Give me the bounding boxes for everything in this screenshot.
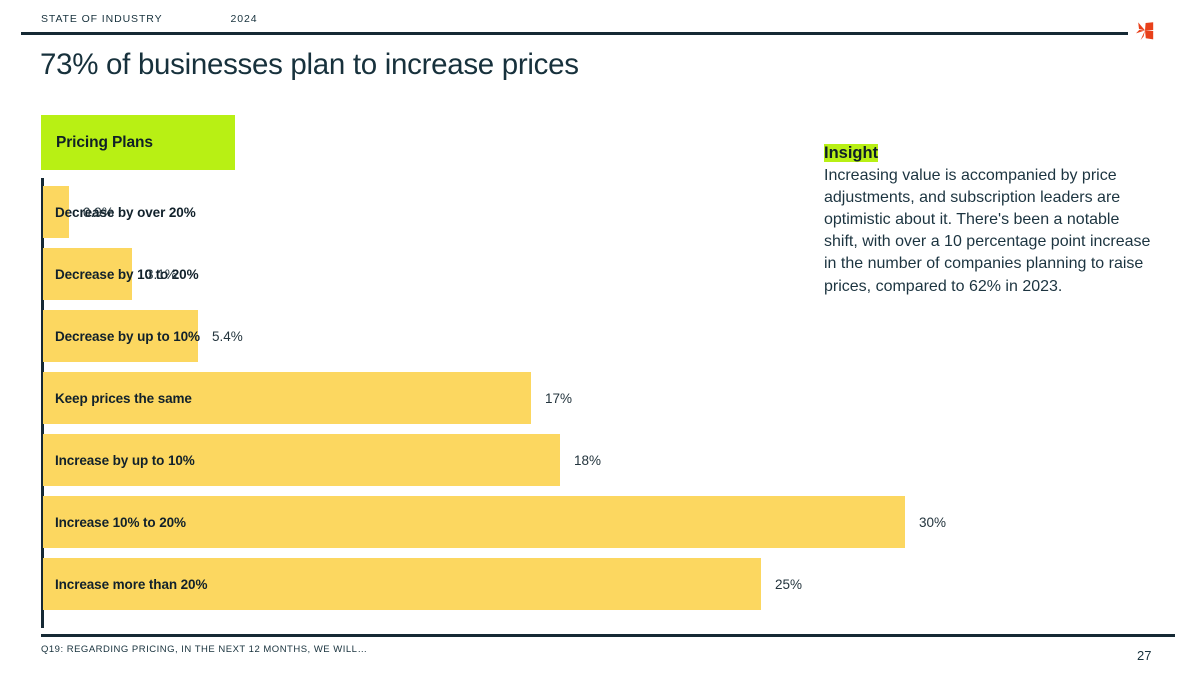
page-title: 73% of businesses plan to increase price… bbox=[40, 48, 579, 82]
bar-value-label: 30% bbox=[919, 515, 946, 530]
bar-category-label: Increase by up to 10% bbox=[43, 453, 195, 468]
source-note: Q19: REGARDING PRICING, IN THE NEXT 12 M… bbox=[41, 644, 367, 655]
insight-body: Increasing value is accompanied by price… bbox=[824, 165, 1156, 298]
bar-row: Decrease by up to 10%5.4% bbox=[43, 310, 243, 362]
bar: Decrease by over 20% bbox=[43, 186, 69, 238]
chart-title-label: Pricing Plans bbox=[41, 134, 153, 152]
header-divider bbox=[21, 32, 1128, 35]
insight-title: Insight bbox=[824, 144, 878, 162]
bar-row: Increase by up to 10%18% bbox=[43, 434, 601, 486]
bar-value-label: 18% bbox=[574, 453, 601, 468]
chart-title-badge: Pricing Plans bbox=[41, 115, 235, 170]
bar: Increase by up to 10% bbox=[43, 434, 560, 486]
bar: Keep prices the same bbox=[43, 372, 531, 424]
bar-category-label: Decrease by up to 10% bbox=[43, 329, 200, 344]
bar-row: Decrease by over 20%0.9% bbox=[43, 186, 114, 238]
bar-category-label: Increase 10% to 20% bbox=[43, 515, 186, 530]
bar-row: Decrease by 10 to 20%3.1% bbox=[43, 248, 177, 300]
bar-row: Increase more than 20%25% bbox=[43, 558, 802, 610]
bar-category-label: Keep prices the same bbox=[43, 391, 192, 406]
pinwheel-logo-icon bbox=[1133, 19, 1157, 43]
bar: Increase more than 20% bbox=[43, 558, 761, 610]
bar-row: Increase 10% to 20%30% bbox=[43, 496, 946, 548]
bar-value-label: 25% bbox=[775, 577, 802, 592]
bar-value-label: 3.1% bbox=[146, 267, 177, 282]
report-kicker: STATE OF INDUSTRY bbox=[41, 13, 162, 25]
bar-value-label: 5.4% bbox=[212, 329, 243, 344]
report-year: 2024 bbox=[230, 13, 257, 25]
page-number: 27 bbox=[1137, 648, 1151, 663]
bar-category-label: Decrease by over 20% bbox=[43, 205, 196, 220]
bar: Decrease by 10 to 20% bbox=[43, 248, 132, 300]
bar-value-label: 17% bbox=[545, 391, 572, 406]
footer-divider bbox=[41, 634, 1175, 637]
bar: Increase 10% to 20% bbox=[43, 496, 905, 548]
insight-panel: Insight Increasing value is accompanied … bbox=[824, 143, 1156, 298]
bar-category-label: Increase more than 20% bbox=[43, 577, 207, 592]
header-eyebrow: STATE OF INDUSTRY 2024 bbox=[41, 13, 257, 25]
bar-row: Keep prices the same17% bbox=[43, 372, 572, 424]
bar: Decrease by up to 10% bbox=[43, 310, 198, 362]
bar-value-label: 0.9% bbox=[83, 205, 114, 220]
